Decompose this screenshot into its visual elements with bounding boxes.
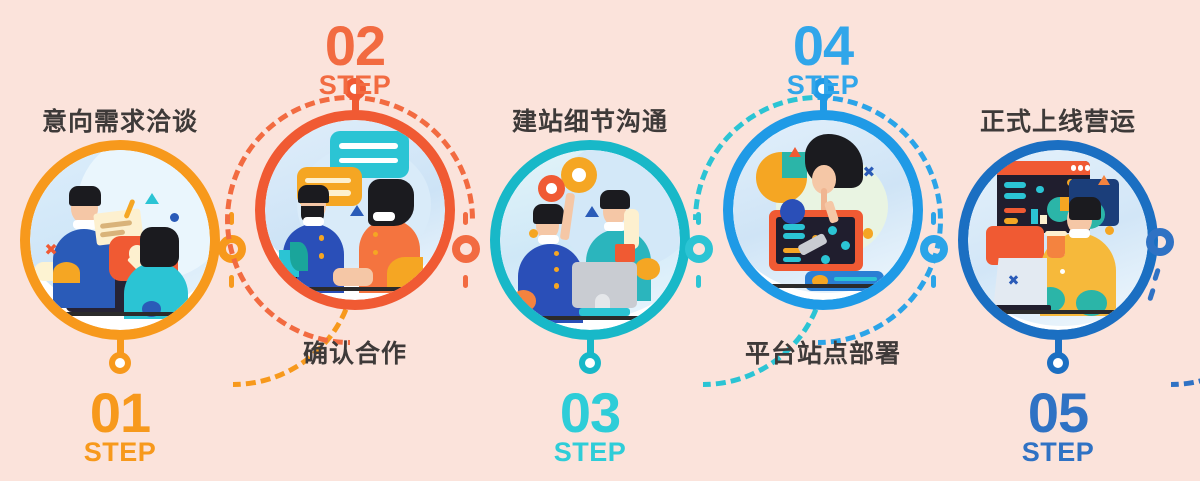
step-03-label: 建站细节沟通	[450, 110, 730, 135]
step-04-step-word: STEP	[683, 72, 963, 99]
step-05-ring: ✖	[958, 140, 1158, 340]
step-03-knob	[579, 352, 601, 374]
connector-2-tick-top	[463, 212, 468, 225]
step-02-step-word: STEP	[215, 72, 495, 99]
step-03-ring	[490, 140, 690, 340]
step-01-step-word: STEP	[0, 439, 260, 466]
step-01-ring: ✖	[20, 140, 220, 340]
step-01-number-block: 01 STEP	[0, 385, 260, 466]
connector-1-tick-bottom	[229, 275, 234, 288]
connector-4-tick-top	[931, 212, 936, 225]
connector-2-tick-bottom	[463, 275, 468, 288]
step-05-label: 正式上线营运	[918, 110, 1198, 135]
step-05[interactable]: ✖ 正式上线营运 05 STEP	[938, 0, 1178, 481]
step-01-number: 01	[0, 385, 260, 441]
step-01[interactable]: ✖ 意向需求洽谈 01 STEP	[0, 0, 240, 481]
step-04[interactable]: ✖ 平台站点部署 04 STEP	[703, 0, 943, 481]
step-04-number: 04	[683, 18, 963, 74]
step-02-label: 确认合作	[215, 342, 495, 367]
step-03-number-block: 03 STEP	[450, 385, 730, 466]
connector-4-tick-bottom	[931, 275, 936, 288]
step-04-label: 平台站点部署	[683, 342, 963, 367]
step-02-ring	[255, 110, 455, 310]
step-04-ring: ✖	[723, 110, 923, 310]
connector-3-tick-bottom	[696, 275, 701, 288]
step-03[interactable]: 建站细节沟通 03 STEP	[470, 0, 710, 481]
deployment-illustration: ✖	[733, 120, 913, 300]
step-05-number-block: 05 STEP	[918, 385, 1198, 466]
step-02[interactable]: 确认合作 02 STEP	[235, 0, 475, 481]
step-02-circle[interactable]	[235, 110, 475, 350]
consultation-illustration: ✖	[30, 150, 210, 330]
step-05-knob	[1047, 352, 1069, 374]
step-02-number-block: 02 STEP	[215, 18, 495, 99]
step-05-step-word: STEP	[918, 439, 1198, 466]
step-05-number: 05	[918, 385, 1198, 441]
step-04-circle[interactable]: ✖	[703, 110, 943, 350]
connector-5	[1146, 228, 1174, 256]
handshake-illustration	[265, 120, 445, 300]
step-04-number-block: 04 STEP	[683, 18, 963, 99]
step-03-number: 03	[450, 385, 730, 441]
planning-illustration	[500, 150, 680, 330]
step-01-label: 意向需求洽谈	[0, 110, 260, 135]
step-01-knob	[109, 352, 131, 374]
step-02-number: 02	[215, 18, 495, 74]
step-03-step-word: STEP	[450, 439, 730, 466]
process-flow-infographic: ✖ 意向需求洽谈 01 STEP	[0, 0, 1200, 481]
launch-illustration: ✖	[968, 150, 1148, 330]
